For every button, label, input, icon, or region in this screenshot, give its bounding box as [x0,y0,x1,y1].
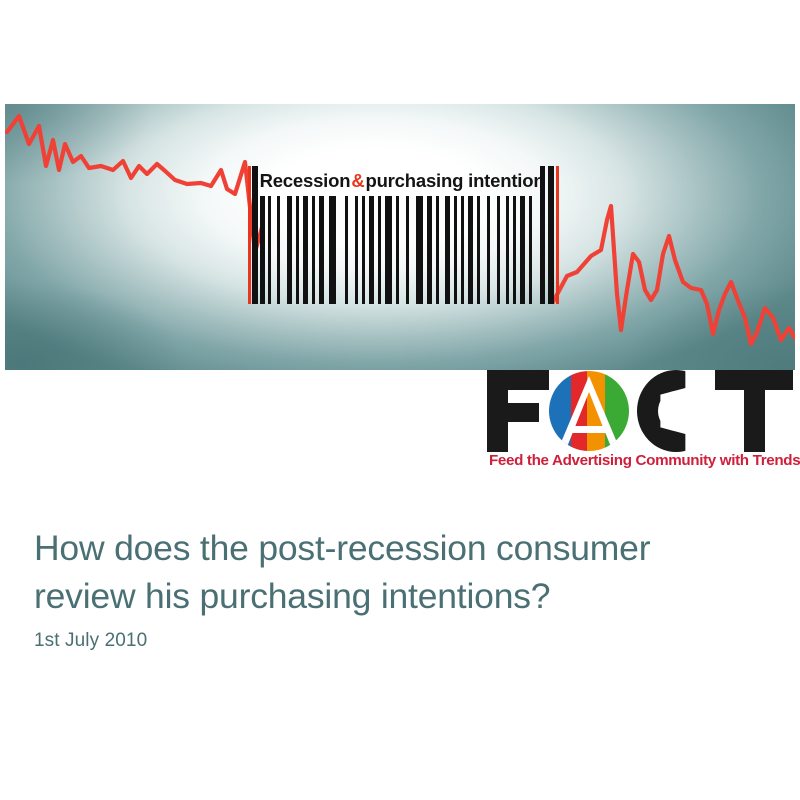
barcode-title-ampersand: & [350,170,365,192]
colored-circle-a-icon [545,370,633,452]
barcode-guard-left [248,166,251,304]
slide-root: Recession & purchasing intention [0,0,800,800]
trend-line-left [7,116,263,252]
recession-hero-banner: Recession & purchasing intention [5,104,795,370]
barcode-title-suffix: purchasing intention [365,170,544,192]
logo-letter-t [715,370,793,452]
page-title: How does the post-recession consumer rev… [34,524,764,620]
barcode-bars [260,196,538,304]
logo-letter-c [637,370,715,452]
page-title-line2: review his purchasing intentions? [34,576,550,616]
barcode-title-text: Recession & purchasing intention [262,168,542,194]
barcode-endbar-left [252,166,258,304]
logo-letter-f [487,370,549,452]
barcode-guard-right [556,166,559,304]
fact-logo: Feed the Advertising Community with Tren… [487,368,793,476]
barcode-endbar-right [548,166,554,304]
logo-letter-a-emblem [545,370,633,452]
fact-wordmark [487,368,793,452]
barcode-endbar-right-inner [540,166,545,304]
barcode-title-prefix: Recession [260,170,351,192]
page-title-line1: How does the post-recession consumer [34,528,650,568]
logo-tagline: Feed the Advertising Community with Tren… [489,452,795,469]
presentation-date: 1st July 2010 [34,630,147,652]
barcode-graphic: Recession & purchasing intention [248,166,559,304]
trend-line-right [553,206,795,344]
